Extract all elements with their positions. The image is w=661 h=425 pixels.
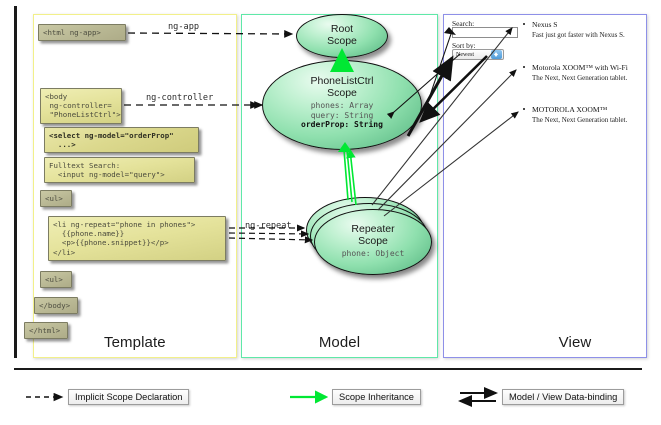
diagram-canvas: Template Model View <html ng-app> <body … <box>0 0 661 425</box>
code-box-html-open: <html ng-app> <box>38 24 126 41</box>
legend-divider <box>14 368 642 370</box>
sort-by-select[interactable]: Newest <box>452 49 504 60</box>
scope-prop-phone: phone: Object <box>315 249 431 259</box>
code-box-fulltext: Fulltext Search: <input ng-model="query"… <box>44 157 195 183</box>
legend-label-scope-inheritance: Scope Inheritance <box>332 389 421 405</box>
phone-name: Nexus S <box>532 20 558 29</box>
panel-title-model: Model <box>242 334 437 351</box>
root-scope: Root Scope <box>296 14 388 58</box>
select-stepper-icon[interactable] <box>491 50 502 59</box>
root-scope-line1: Root <box>297 23 387 35</box>
phone-snippet: The Next, Next Generation tablet. <box>532 74 627 82</box>
phonelistctrl-scope: PhoneListCtrl Scope phones: Array query:… <box>262 60 422 150</box>
code-box-li-repeat: <li ng-repeat="phone in phones"> {{phone… <box>48 216 226 261</box>
phone-name: MOTOROLA XOOM™ <box>532 105 607 114</box>
root-scope-line2: Scope <box>297 35 387 47</box>
edge-label-ng-controller: ng-controller <box>146 93 213 103</box>
repeater-scope-line1: Repeater <box>315 223 431 235</box>
phone-snippet: The Next, Next Generation tablet. <box>532 116 627 124</box>
search-input[interactable] <box>452 27 518 38</box>
repeater-scope-props: phone: Object <box>315 249 431 259</box>
phone-name: Motorola XOOM™ with Wi-Fi <box>532 63 628 72</box>
code-box-ul-open: <ul> <box>40 190 72 207</box>
edge-label-ng-repeat: ng-repeat <box>245 221 292 231</box>
scope-prop-phones: phones: Array <box>263 101 421 111</box>
phonelistctrl-scope-props: phones: Array query: String orderProp: S… <box>263 101 421 130</box>
phone-snippet: Fast just got faster with Nexus S. <box>532 31 625 39</box>
legend-label-implicit-scope-declaration: Implicit Scope Declaration <box>68 389 189 405</box>
panel-title-view: View <box>444 334 646 351</box>
code-box-select: <select ng-model="orderProp" ...> <box>44 127 199 153</box>
phonelistctrl-scope-line1: PhoneListCtrl <box>263 75 421 87</box>
phonelistctrl-scope-line2: Scope <box>263 87 421 99</box>
scope-prop-query: query: String <box>263 111 421 121</box>
edge-label-ng-app: ng-app <box>168 22 199 32</box>
code-box-html-close: </html> <box>24 322 68 339</box>
repeater-scope: Repeater Scope phone: Object <box>314 209 432 275</box>
repeater-scope-line2: Scope <box>315 235 431 247</box>
legend-label-model-view-data-binding: Model / View Data-binding <box>502 389 624 405</box>
code-box-body-open: <body ng-controller= "PhoneListCtrl"> <box>40 88 122 124</box>
sort-by-selected-value: Newest <box>456 50 474 60</box>
scope-prop-orderprop: orderProp: String <box>263 120 421 130</box>
code-box-ul-close: <ul> <box>40 271 72 288</box>
code-box-body-close: </body> <box>34 297 78 314</box>
left-vertical-rule <box>14 6 17 358</box>
